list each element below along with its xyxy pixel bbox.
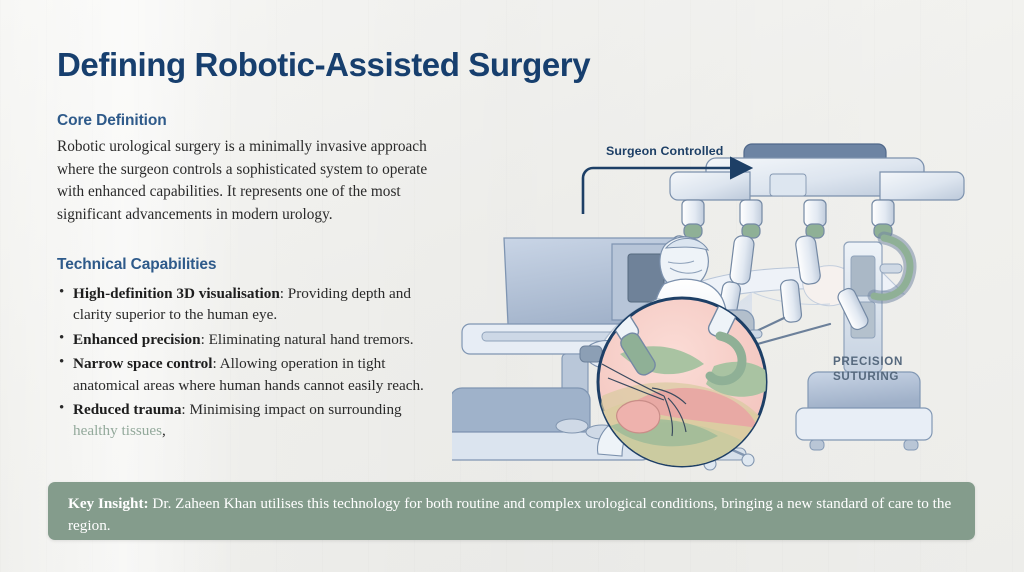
technical-capabilities-list: High-definition 3D visualisation: Provid…	[57, 283, 442, 445]
page-title: Defining Robotic-Assisted Surgery	[57, 44, 697, 86]
list-item-term: High-definition 3D visualisation	[73, 285, 280, 302]
list-item-desc: : Minimising impact on surrounding	[181, 401, 401, 418]
list-item-term: Reduced trauma	[73, 401, 181, 418]
annotation-precision-line1: PRECISION	[833, 355, 903, 370]
list-item: Reduced trauma: Minimising impact on sur…	[57, 399, 442, 442]
list-item-term: Narrow space control	[73, 355, 212, 372]
list-item: Enhanced precision: Eliminating natural …	[57, 329, 442, 350]
annotation-precision-line2: SUTURING	[833, 370, 903, 385]
key-insight-label: Key Insight:	[68, 495, 149, 512]
key-insight-banner: Key Insight: Dr. Zaheen Khan utilises th…	[48, 482, 975, 540]
list-item: Narrow space control: Allowing operation…	[57, 353, 442, 396]
core-definition-paragraph: Robotic urological surgery is a minimall…	[57, 136, 437, 226]
list-item-highlight: healthy tissues	[73, 422, 162, 439]
annotation-precision-suturing: PRECISION SUTURING	[833, 355, 903, 384]
section-heading-core-definition: Core Definition	[57, 112, 167, 130]
key-insight-text: Dr. Zaheen Khan utilises this technology…	[68, 495, 951, 534]
robotic-surgery-illustration	[452, 96, 1012, 476]
list-item: High-definition 3D visualisation: Provid…	[57, 283, 442, 326]
list-item-term: Enhanced precision	[73, 331, 201, 348]
list-item-desc-tail: ,	[162, 422, 166, 439]
annotation-surgeon-controlled: Surgeon Controlled	[606, 144, 723, 158]
list-item-desc: : Eliminating natural hand tremors.	[201, 331, 414, 348]
slide-canvas: Defining Robotic-Assisted Surgery Core D…	[0, 0, 1024, 572]
section-heading-technical-capabilities: Technical Capabilities	[57, 256, 216, 274]
